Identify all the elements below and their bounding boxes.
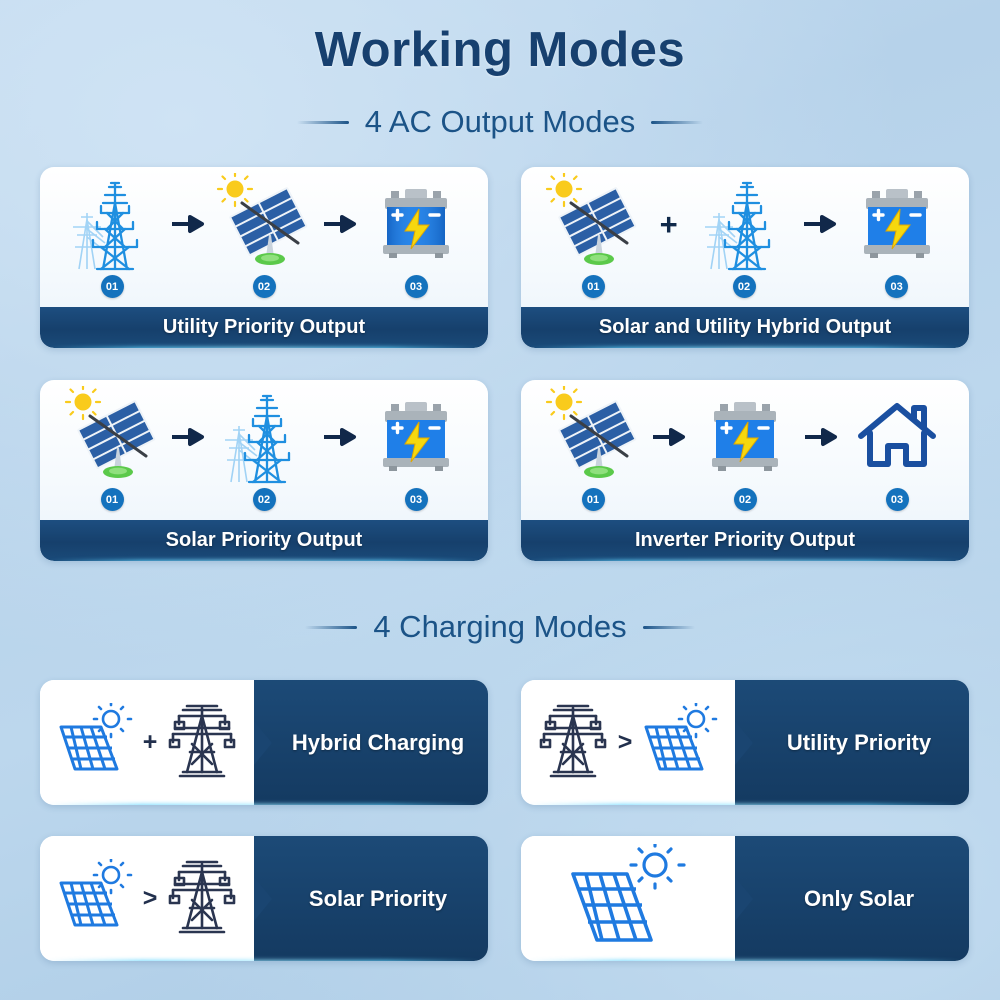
house-icon <box>856 386 938 486</box>
flow-node: 03 <box>362 173 470 301</box>
rule-left-icon <box>305 626 357 629</box>
plus-sign: + <box>143 730 158 755</box>
solar-panel-line-icon <box>57 859 133 938</box>
arrow-right-icon <box>166 173 210 301</box>
flow-node: 01 <box>539 386 647 514</box>
ac-mode-label: Solar Priority Output <box>40 520 488 561</box>
utility-pylon-line-icon <box>167 858 237 939</box>
charging-mode-card[interactable]: > <box>40 836 488 961</box>
section-header-ac-output: 4 AC Output Modes <box>0 104 1000 140</box>
battery-icon <box>377 173 455 273</box>
ac-mode-flow: 01 + <box>521 167 969 307</box>
step-badge: 03 <box>885 275 908 298</box>
section-header-charging-label: 4 Charging Modes <box>373 609 626 645</box>
charging-mode-banner: Solar Priority <box>254 836 488 961</box>
utility-tower-icon <box>221 386 307 486</box>
charging-mode-banner: Utility Priority <box>735 680 969 805</box>
utility-tower-icon <box>701 173 787 273</box>
charging-icons: + <box>40 680 254 805</box>
flow-node: 03 <box>842 173 951 301</box>
flow-node: 02 <box>210 386 318 514</box>
solar-panel-line-icon <box>567 844 689 953</box>
solar-panel-line-icon <box>642 703 718 782</box>
utility-tower-icon <box>69 173 155 273</box>
solar-panel-3d-icon <box>214 173 314 273</box>
ac-mode-card[interactable]: 01 + <box>521 167 969 348</box>
solar-panel-line-icon <box>57 703 133 782</box>
step-badge: 02 <box>253 275 276 298</box>
flow-node: 02 <box>210 173 318 301</box>
solar-panel-3d-icon <box>62 386 162 486</box>
section-header-ac-label: 4 AC Output Modes <box>365 104 636 140</box>
charging-icons <box>521 836 735 961</box>
battery-icon <box>377 386 455 486</box>
greater-than-sign: > <box>143 886 158 911</box>
arrow-right-icon <box>647 386 691 514</box>
step-badge: 02 <box>733 275 756 298</box>
ac-mode-flow: 01 <box>40 167 488 307</box>
charging-icons: > <box>40 836 254 961</box>
flow-node: 02 <box>691 386 799 514</box>
ac-mode-label: Utility Priority Output <box>40 307 488 348</box>
rule-right-icon <box>643 626 695 629</box>
arrow-notch-icon <box>718 877 736 921</box>
flow-node: 01 <box>539 173 648 301</box>
charging-mode-label: Hybrid Charging <box>292 730 464 756</box>
solar-panel-3d-icon <box>543 173 643 273</box>
arrow-notch-fill-icon <box>735 721 753 765</box>
step-badge: 02 <box>734 488 757 511</box>
charging-mode-banner: Only Solar <box>735 836 969 961</box>
arrow-right-icon <box>166 386 210 514</box>
step-badge: 01 <box>582 275 605 298</box>
step-badge: 03 <box>405 275 428 298</box>
charging-mode-card[interactable]: > Utility Priority <box>521 680 969 805</box>
flow-node: 02 <box>690 173 799 301</box>
utility-pylon-line-icon <box>167 702 237 783</box>
charging-icons: > <box>521 680 735 805</box>
solar-panel-3d-icon <box>543 386 643 486</box>
charging-mode-label: Utility Priority <box>787 730 931 756</box>
step-badge: 02 <box>253 488 276 511</box>
step-badge: 01 <box>582 488 605 511</box>
charging-mode-card[interactable]: Only Solar <box>521 836 969 961</box>
ac-mode-card[interactable]: 01 <box>521 380 969 561</box>
page-title: Working Modes <box>0 22 1000 78</box>
utility-pylon-line-icon <box>538 702 608 783</box>
rule-left-icon <box>297 121 349 124</box>
ac-mode-card[interactable]: 01 <box>40 167 488 348</box>
arrow-right-icon <box>318 173 362 301</box>
infographic-page: Working Modes 4 AC Output Modes 4 Chargi… <box>0 0 1000 1000</box>
arrow-right-icon <box>318 386 362 514</box>
arrow-notch-icon <box>237 721 255 765</box>
arrow-notch-fill-icon <box>735 877 753 921</box>
battery-icon <box>706 386 784 486</box>
ac-mode-flow: 01 <box>521 380 969 520</box>
arrow-notch-icon <box>718 721 736 765</box>
ac-mode-label: Inverter Priority Output <box>521 520 969 561</box>
ac-mode-flow: 01 <box>40 380 488 520</box>
greater-than-sign: > <box>618 730 633 755</box>
charging-mode-label: Only Solar <box>804 886 914 912</box>
step-badge: 03 <box>886 488 909 511</box>
charging-mode-label: Solar Priority <box>309 886 447 912</box>
section-header-charging: 4 Charging Modes <box>0 609 1000 645</box>
arrow-right-icon <box>799 386 843 514</box>
arrow-notch-icon <box>237 877 255 921</box>
arrow-notch-fill-icon <box>254 877 272 921</box>
arrow-right-icon <box>798 173 842 301</box>
step-badge: 03 <box>405 488 428 511</box>
charging-mode-banner: Hybrid Charging <box>254 680 488 805</box>
plus-sign: + <box>648 173 690 301</box>
charging-mode-card[interactable]: + <box>40 680 488 805</box>
arrow-notch-fill-icon <box>254 721 272 765</box>
ac-mode-label: Solar and Utility Hybrid Output <box>521 307 969 348</box>
step-badge: 01 <box>101 275 124 298</box>
flow-node: 03 <box>843 386 951 514</box>
flow-node: 01 <box>58 173 166 301</box>
flow-node: 01 <box>58 386 166 514</box>
battery-icon <box>858 173 936 273</box>
flow-node: 03 <box>362 386 470 514</box>
step-badge: 01 <box>101 488 124 511</box>
rule-right-icon <box>651 121 703 124</box>
ac-mode-card[interactable]: 01 <box>40 380 488 561</box>
